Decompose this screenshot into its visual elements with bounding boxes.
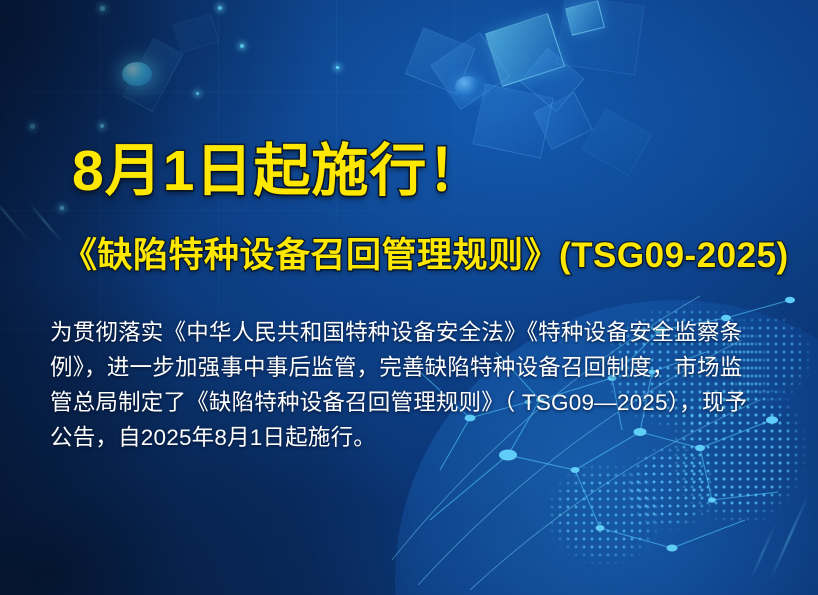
banner-content: 8月1日起施行！ 《缺陷特种设备召回管理规则》(TSG09-2025) 为贯彻落…	[0, 0, 818, 595]
body-line: 管总局制定了《缺陷特种设备召回管理规则》（ TSG09—2025），现予	[50, 385, 780, 420]
body-line: 例》，进一步加强事中事后监管，完善缺陷特种设备召回制度，市场监	[50, 350, 780, 385]
body-line: 为贯彻落实《中华人民共和国特种设备安全法》《特种设备安全监察条	[50, 315, 780, 350]
body-line: 公告，自2025年8月1日起施行。	[50, 420, 780, 455]
regulation-subtitle: 《缺陷特种设备召回管理规则》(TSG09-2025)	[62, 236, 789, 275]
announcement-body: 为贯彻落实《中华人民共和国特种设备安全法》《特种设备安全监察条 例》，进一步加强…	[50, 315, 780, 455]
page-title-headline: 8月1日起施行！	[72, 141, 485, 203]
announcement-banner: 8月1日起施行！ 《缺陷特种设备召回管理规则》(TSG09-2025) 为贯彻落…	[0, 0, 818, 595]
